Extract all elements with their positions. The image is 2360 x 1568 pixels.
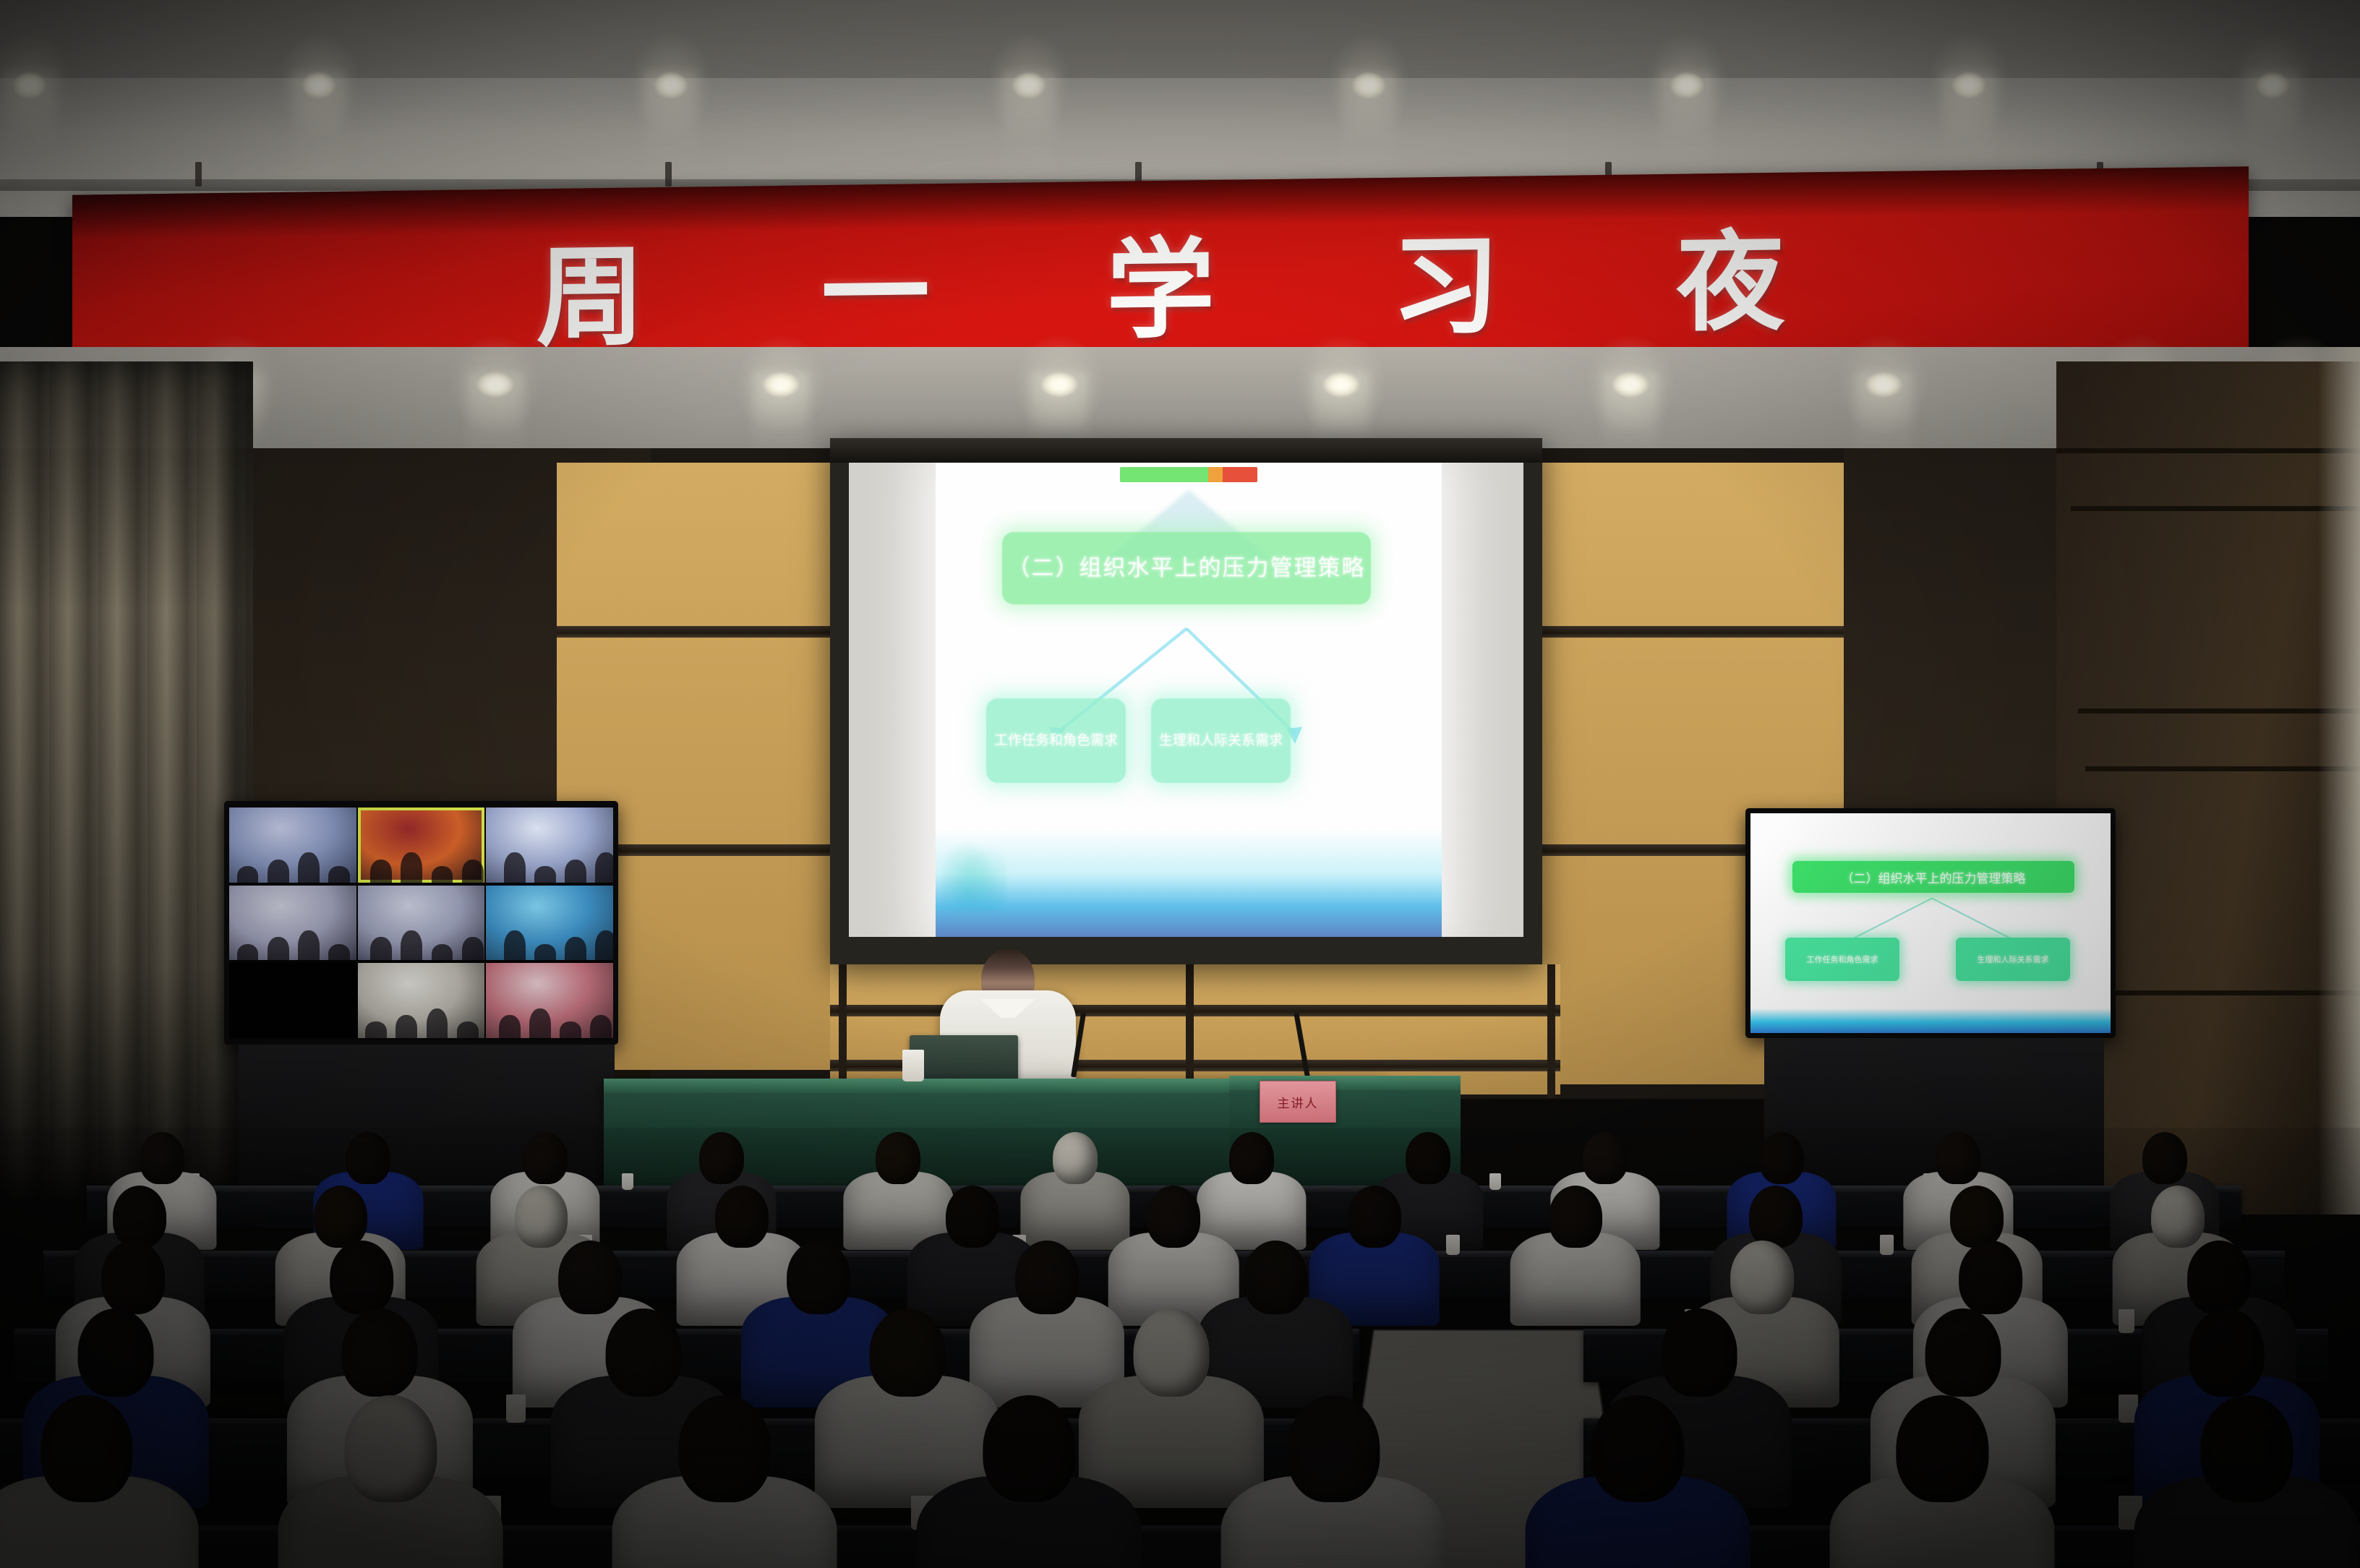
remote-participant-silhouette — [427, 1008, 448, 1038]
audience-member-head — [1897, 1395, 1988, 1502]
right-wall-trim — [2071, 506, 2360, 511]
remote-participant-silhouette — [432, 866, 453, 883]
audience-member-head — [946, 1186, 999, 1248]
remote-participant-silhouette — [534, 866, 556, 883]
video-conference-grid — [229, 806, 613, 1040]
audience-member-head — [1229, 1132, 1274, 1184]
audience-member-head — [515, 1186, 568, 1248]
paper-cup — [902, 1050, 924, 1081]
remote-participant-silhouette — [595, 852, 613, 882]
audience-member — [2134, 1395, 2359, 1568]
audience-member-head — [1936, 1132, 1981, 1184]
video-grid-empty-cell — [229, 963, 356, 1038]
slide-canvas: （二）组织水平上的压力管理策略 工作任务和角色需求 生理和人际关系需求 — [936, 463, 1442, 937]
mini-slide-title-box: （二）组织水平上的压力管理策略 — [1792, 861, 2074, 893]
audience-member-head — [78, 1308, 154, 1397]
remote-participant-silhouette — [370, 937, 392, 960]
remote-participant-silhouette — [268, 937, 289, 960]
video-grid-row — [229, 806, 613, 884]
audience-member — [612, 1395, 837, 1568]
video-grid-row — [229, 884, 613, 962]
remote-participant-silhouette — [268, 860, 289, 883]
remote-participant-silhouette — [504, 852, 526, 882]
slide-app-toolbar[interactable] — [1120, 467, 1257, 482]
banner-text: 周 一 学 习 夜 — [72, 166, 2249, 377]
audience-member-head — [1244, 1241, 1307, 1314]
paper-cup — [622, 1173, 633, 1190]
remote-participant-silhouette — [370, 860, 392, 883]
paper-cup — [1446, 1235, 1460, 1255]
mini-slide-child-right: 生理和人际关系需求 — [1956, 938, 2070, 981]
audience-member-head — [113, 1186, 166, 1248]
remote-participant-silhouette — [401, 852, 422, 882]
audience-member-head — [699, 1132, 744, 1184]
remote-participant-silhouette — [560, 1021, 581, 1038]
audience-member-head — [715, 1186, 769, 1248]
video-grid-tile[interactable] — [486, 886, 613, 961]
audience-member-head — [1749, 1186, 1803, 1248]
audience-member-head — [523, 1132, 568, 1184]
video-wall-tv-left[interactable] — [224, 801, 618, 1045]
audience-member — [1830, 1395, 2055, 1568]
video-grid-tile[interactable] — [229, 886, 356, 961]
side-display-tv-right[interactable]: （二）组织水平上的压力管理策略 工作任务和角色需求 生理和人际关系需求 — [1745, 808, 2116, 1038]
remote-participant-silhouette — [298, 852, 320, 882]
side-display-screen: （二）组织水平上的压力管理策略 工作任务和角色需求 生理和人际关系需求 — [1750, 813, 2111, 1033]
right-pillar-highlight — [2318, 347, 2360, 1214]
audience-member-head — [346, 1132, 391, 1184]
audience-member-head — [40, 1395, 132, 1502]
audience-member-head — [1147, 1186, 1200, 1248]
remote-participant-silhouette — [396, 1015, 417, 1038]
remote-participant-silhouette — [565, 860, 586, 883]
mini-slide-child-left: 工作任务和角色需求 — [1785, 938, 1899, 981]
audience-member — [1221, 1395, 1446, 1568]
audience-member-head — [2189, 1308, 2265, 1397]
screen-surface: （二）组织水平上的压力管理策略 工作任务和角色需求 生理和人际关系需求 — [849, 463, 1523, 937]
mini-connector-lines — [1750, 813, 2111, 1033]
banner-hook-icon — [665, 162, 672, 187]
screen-frame-top — [830, 438, 1542, 463]
audience-member-head — [558, 1241, 622, 1314]
remote-participant-silhouette — [328, 866, 350, 883]
audience-member-head — [876, 1132, 921, 1184]
audience-member-head — [140, 1132, 184, 1184]
video-wall-screen — [229, 806, 613, 1040]
remote-participant-silhouette — [432, 944, 453, 961]
event-banner: 周 一 学 习 夜 — [72, 181, 2249, 363]
video-grid-row — [229, 961, 613, 1040]
paper-cup — [1880, 1235, 1894, 1255]
remote-participant-silhouette — [237, 866, 259, 883]
audience-member-head — [1959, 1241, 2022, 1314]
audience-member-head — [1583, 1132, 1628, 1184]
audience-member-head — [1288, 1395, 1380, 1502]
video-grid-tile[interactable] — [486, 807, 613, 883]
remote-participant-silhouette — [365, 1021, 387, 1038]
slide-title-box: （二）组织水平上的压力管理策略 — [1002, 532, 1371, 604]
audience-member-head — [679, 1395, 771, 1502]
audience-member-head — [2142, 1132, 2187, 1184]
audience-member-head — [1759, 1132, 1804, 1184]
remote-participant-silhouette — [504, 930, 526, 960]
audience-member-head — [870, 1308, 946, 1397]
toolbar-orange-segment[interactable] — [1208, 467, 1223, 482]
remote-participant-silhouette — [595, 930, 613, 960]
audience-member-head — [1348, 1186, 1401, 1248]
video-grid-tile[interactable] — [358, 963, 485, 1038]
audience-member-head — [1406, 1132, 1451, 1184]
wall-vertical-trim — [1547, 964, 1555, 1098]
remote-participant-silhouette — [462, 937, 484, 960]
audience-member-head — [314, 1186, 367, 1248]
mini-slide-footer — [1750, 1008, 2111, 1033]
wall-trim-band — [1533, 626, 1844, 638]
wall-trim-band — [557, 626, 860, 638]
audience-member-head — [606, 1308, 682, 1397]
audience-member-head — [1053, 1132, 1098, 1184]
mini-slide-canvas: （二）组织水平上的压力管理策略 工作任务和角色需求 生理和人际关系需求 — [1750, 813, 2111, 1033]
audience-member-head — [2187, 1241, 2251, 1314]
remote-participant-silhouette — [590, 1015, 612, 1038]
audience-member-head — [330, 1241, 393, 1314]
slide-child-box-left: 工作任务和角色需求 — [986, 698, 1126, 783]
right-wall-trim — [2056, 448, 2360, 453]
banner-hook-icon — [195, 162, 202, 187]
video-grid-tile[interactable] — [486, 963, 613, 1038]
audience-member-head — [1015, 1241, 1079, 1314]
audience-member-head — [2201, 1395, 2293, 1502]
remote-participant-silhouette — [328, 944, 350, 961]
audience-member-head — [1730, 1241, 1794, 1314]
remote-participant-silhouette — [462, 860, 484, 883]
projection-screen: （二）组织水平上的压力管理策略 工作任务和角色需求 生理和人际关系需求 — [830, 438, 1542, 964]
audience-member — [1526, 1395, 1750, 1568]
audience-member — [917, 1395, 1142, 1568]
audience-member-head — [342, 1308, 418, 1397]
audience-member-head — [345, 1395, 437, 1502]
remote-participant-silhouette — [499, 1015, 521, 1038]
audience-member-head — [1950, 1186, 2004, 1248]
audience-member-head — [1925, 1308, 2001, 1397]
audience-member-head — [787, 1241, 850, 1314]
paper-cup — [1489, 1173, 1501, 1190]
toolbar-green-segment[interactable] — [1120, 467, 1208, 482]
toolbar-red-segment[interactable] — [1223, 467, 1257, 482]
audience-member-head — [2151, 1186, 2205, 1248]
audience-member-head — [1134, 1308, 1210, 1397]
video-grid-tile[interactable] — [358, 807, 485, 883]
remote-participant-silhouette — [237, 944, 259, 961]
audience-member-head — [983, 1395, 1075, 1502]
slide-footer-gradient — [936, 828, 1442, 937]
audience-member-head — [1549, 1186, 1602, 1248]
video-grid-tile[interactable] — [358, 886, 485, 961]
lecture-hall-scene: 周 一 学 习 夜 — [0, 0, 2360, 1568]
remote-participant-silhouette — [565, 937, 586, 960]
ceiling-upper-plane — [0, 0, 2360, 78]
audience-member — [278, 1395, 503, 1568]
speaker-name-placard: 主讲人 — [1260, 1081, 1336, 1123]
remote-participant-silhouette — [457, 1021, 479, 1038]
audience-member-head — [1592, 1395, 1684, 1502]
audience-member-head — [101, 1241, 165, 1314]
paper-cup — [506, 1395, 526, 1423]
audience-member-head — [1661, 1308, 1737, 1397]
remote-participant-silhouette — [401, 930, 422, 960]
slide-child-box-right: 生理和人际关系需求 — [1151, 698, 1291, 783]
remote-participant-silhouette — [534, 944, 556, 961]
video-grid-tile[interactable] — [229, 807, 356, 883]
audience-member — [0, 1395, 199, 1568]
remote-participant-silhouette — [529, 1008, 551, 1038]
remote-participant-silhouette — [298, 930, 320, 960]
paper-cup — [2119, 1309, 2134, 1333]
side-curtain-shading — [0, 361, 253, 1200]
